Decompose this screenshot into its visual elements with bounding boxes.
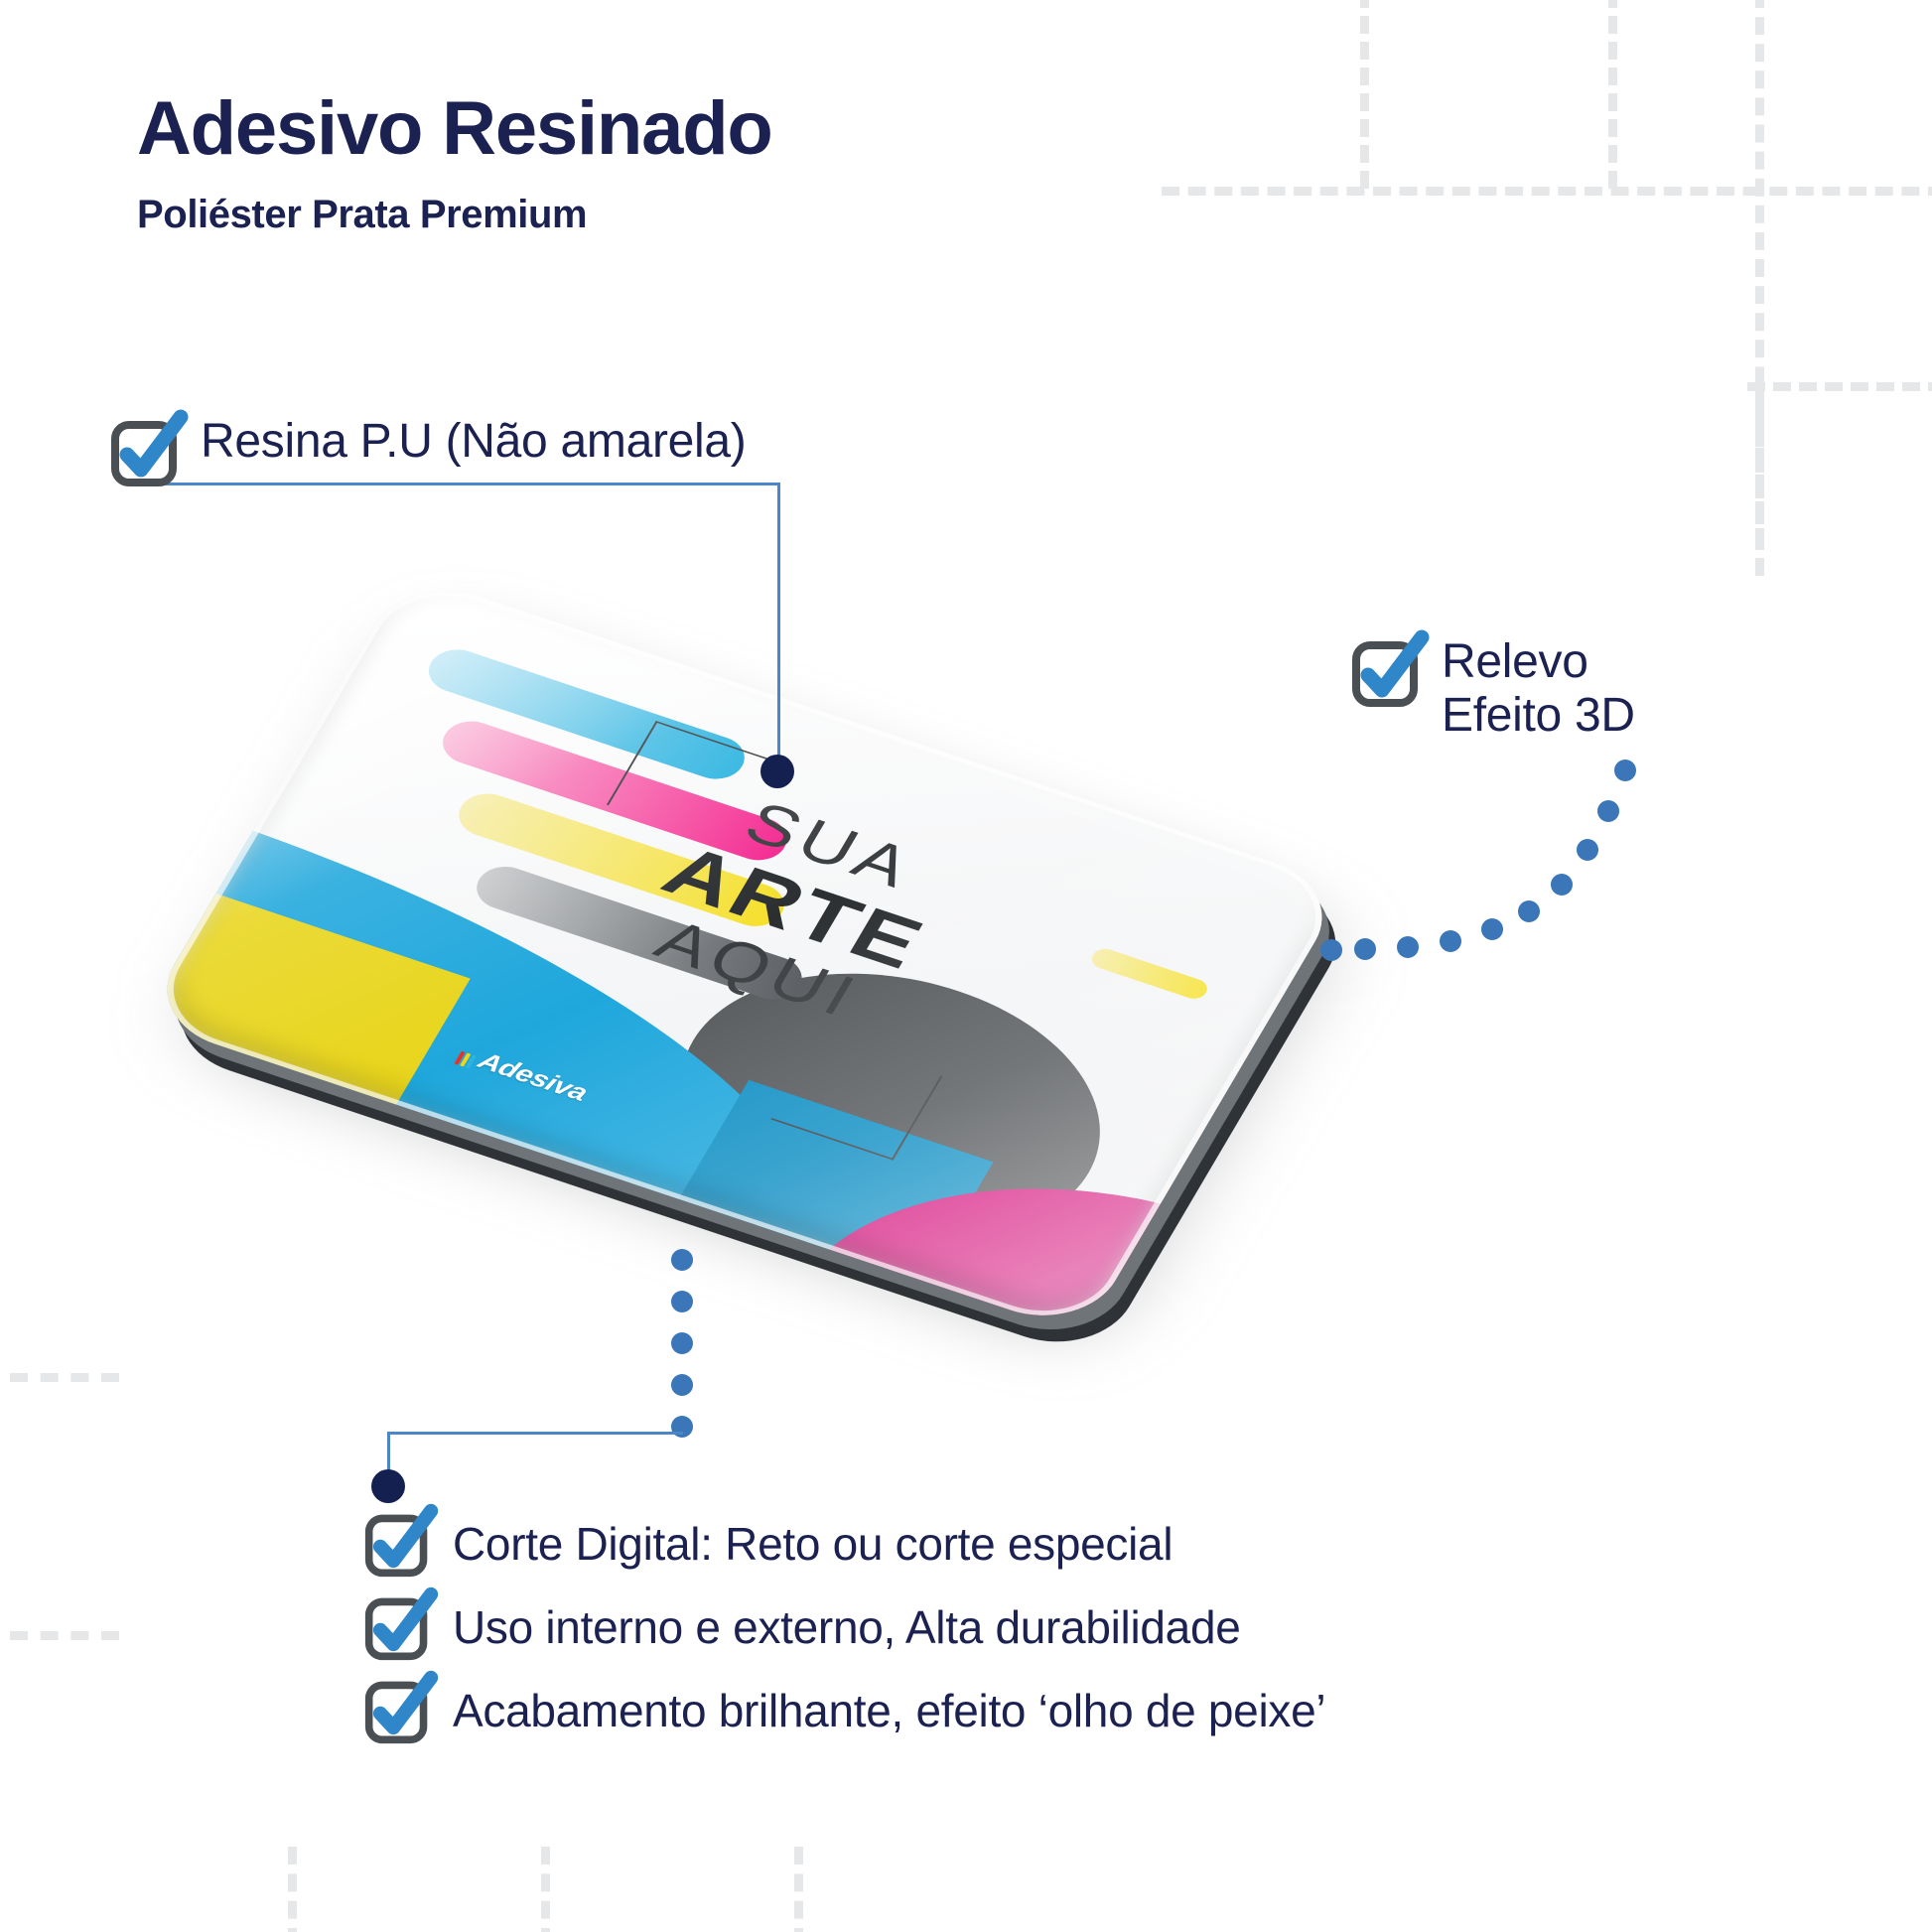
list-item[interactable]: Corte Digital: Reto ou corte especial (363, 1509, 1325, 1579)
grid-line-horizontal (1747, 382, 1932, 391)
leader-segment-vertical (387, 1432, 390, 1477)
leader-dot (1481, 918, 1503, 940)
callout-resina-pu[interactable]: Resina P.U (Não amarela) (109, 415, 747, 488)
header-block: Adesivo Resinado Poliéster Prata Premium (137, 91, 772, 237)
page-subtitle: Poliéster Prata Premium (137, 193, 772, 237)
callout-label: Relevo Efeito 3D (1442, 635, 1635, 743)
list-item[interactable]: Acabamento brilhante, efeito ‘olho de pe… (363, 1676, 1325, 1745)
grid-line-vertical (794, 1847, 803, 1932)
grid-line-horizontal (10, 1631, 119, 1640)
leader-dot (1518, 900, 1540, 922)
feature-list: Corte Digital: Reto ou corte especial Us… (363, 1509, 1325, 1745)
grid-line-vertical (288, 1847, 297, 1932)
grid-line-horizontal (10, 1373, 119, 1382)
grid-line-horizontal (1162, 187, 1932, 196)
leader-dot (671, 1291, 693, 1312)
checkbox-checked-icon[interactable] (363, 1509, 433, 1579)
callout-relevo-3d[interactable]: Relevo Efeito 3D (1350, 635, 1635, 743)
leader-dot (1354, 938, 1376, 960)
product-illustration: SUA ARTE AQUI Adesiva (248, 635, 1519, 1390)
grid-line-vertical (541, 1847, 550, 1932)
page-title: Adesivo Resinado (137, 91, 772, 167)
grid-line-vertical (1755, 0, 1764, 546)
feature-label: Corte Digital: Reto ou corte especial (453, 1519, 1173, 1570)
leader-dot (1320, 939, 1342, 961)
checkbox-checked-icon[interactable] (109, 415, 183, 488)
leader-dot (671, 1416, 693, 1438)
leader-dot (1577, 839, 1598, 861)
feature-label: Uso interno e externo, Alta durabilidade (453, 1602, 1241, 1653)
leader-segment-horizontal (387, 1432, 683, 1435)
leader-dot (671, 1332, 693, 1354)
grid-line-vertical (1755, 377, 1764, 576)
checkbox-checked-icon[interactable] (1350, 635, 1424, 709)
infographic-canvas: Adesivo Resinado Poliéster Prata Premium (0, 0, 1932, 1932)
list-item[interactable]: Uso interno e externo, Alta durabilidade (363, 1592, 1325, 1662)
checkbox-checked-icon[interactable] (363, 1592, 433, 1662)
resin-sticker-card: SUA ARTE AQUI Adesiva (142, 572, 1347, 1334)
leader-dot (1614, 759, 1636, 781)
leader-dot (1597, 800, 1619, 822)
callout-label: Resina P.U (Não amarela) (201, 415, 747, 469)
grid-line-vertical (1608, 0, 1617, 189)
feature-label: Acabamento brilhante, efeito ‘olho de pe… (453, 1686, 1325, 1736)
leader-dot (1440, 930, 1461, 952)
leader-endpoint-dot (371, 1469, 405, 1503)
leader-dot (1397, 936, 1419, 958)
leader-dot (1551, 874, 1573, 896)
leader-dot (671, 1374, 693, 1396)
grid-line-vertical (1360, 0, 1369, 189)
leader-dot (671, 1249, 693, 1271)
checkbox-checked-icon[interactable] (363, 1676, 433, 1745)
